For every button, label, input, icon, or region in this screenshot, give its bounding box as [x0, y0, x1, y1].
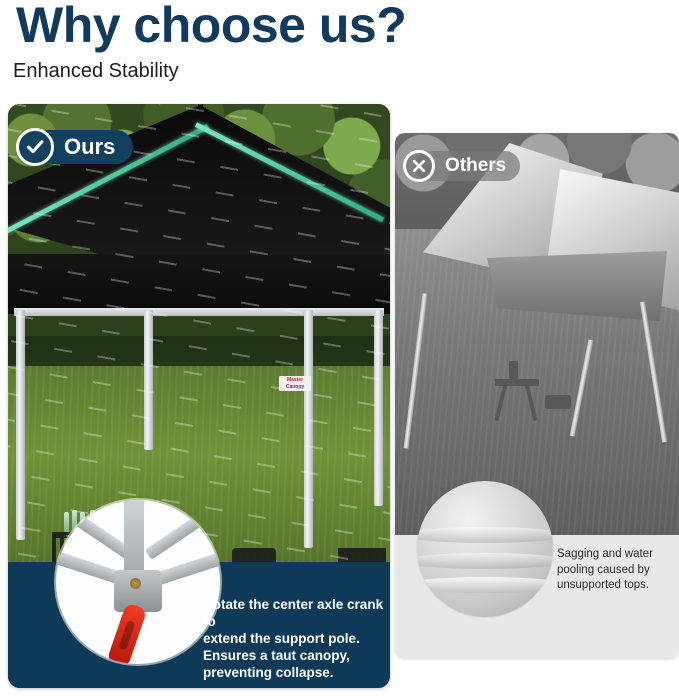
crank-slot	[118, 620, 135, 651]
x-circle-icon	[403, 150, 435, 182]
folding-table-top	[495, 379, 539, 386]
comparison-panel-others: Others Sagging and water pooling caused …	[395, 133, 679, 658]
others-photo	[395, 133, 679, 535]
badge-ours: Ours	[30, 130, 133, 164]
sag-fold-2	[417, 553, 553, 569]
table-cup	[509, 361, 518, 379]
crank-handle	[106, 602, 147, 664]
comparison-panel-ours: Master Canopy Ours Rotate the center axl…	[8, 104, 390, 688]
ground-bag	[545, 395, 571, 409]
canopy-pole-2	[144, 310, 153, 450]
ours-inset-closeup	[56, 500, 220, 664]
badge-others: Others	[415, 151, 520, 181]
badge-ours-label: Ours	[64, 134, 115, 160]
page-subtitle: Enhanced Stability	[13, 60, 179, 83]
canopy-pole-3	[304, 310, 313, 548]
sag-fold-3	[417, 577, 553, 593]
others-caption-text: Sagging and water pooling caused by unsu…	[557, 547, 675, 594]
others-inset-closeup	[417, 481, 553, 617]
header: Why choose us? Enhanced Stability	[0, 0, 679, 104]
badge-others-label: Others	[445, 155, 506, 177]
ours-caption-text: Rotate the center axle crank to extend t…	[203, 596, 388, 681]
canopy-pole-1	[16, 310, 25, 540]
check-circle-icon	[16, 128, 54, 166]
ours-photo: Master Canopy	[8, 104, 390, 564]
sag-fold-1	[417, 527, 553, 543]
hub-screw-icon	[130, 578, 141, 589]
canopy-cross-beam	[14, 308, 384, 316]
canopy-roof-body	[8, 254, 390, 314]
brand-logo: Master Canopy	[279, 376, 311, 391]
canopy-pole-4	[374, 310, 383, 506]
page-title: Why choose us?	[16, 0, 406, 54]
